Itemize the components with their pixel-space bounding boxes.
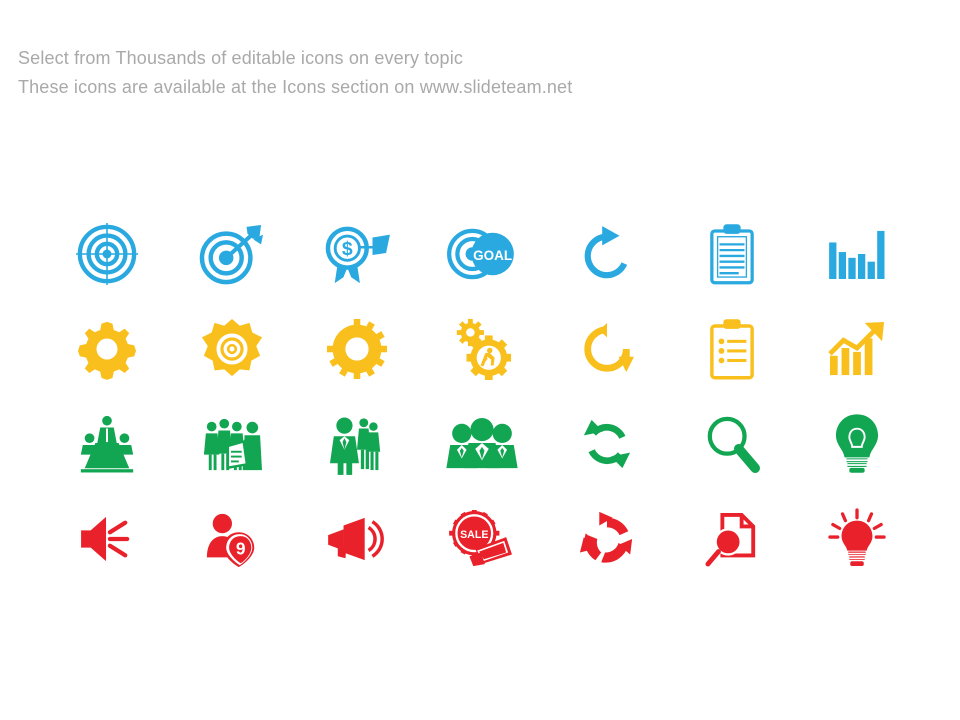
growth-chart-arrow-icon[interactable]: [809, 303, 905, 395]
heading-line-1: Select from Thousands of editable icons …: [18, 44, 918, 73]
crosshair-target-icon[interactable]: [59, 208, 155, 300]
circular-arrow-icon[interactable]: [559, 303, 655, 395]
megaphone-icon[interactable]: [309, 493, 405, 585]
idea-bulb-rays-icon[interactable]: [809, 493, 905, 585]
light-bulb-icon[interactable]: [809, 398, 905, 490]
clipboard-lines-icon[interactable]: [684, 208, 780, 300]
document-search-icon[interactable]: [684, 493, 780, 585]
slide-canvas: Select from Thousands of editable icons …: [0, 0, 960, 720]
svg-text:$: $: [342, 237, 353, 259]
icon-grid: $ GOAL: [44, 206, 920, 586]
group-presentation-icon[interactable]: [184, 398, 280, 490]
team-suits-icon[interactable]: [434, 398, 530, 490]
sale-label: SALE: [460, 529, 488, 541]
person-location-pin-icon[interactable]: 9: [184, 493, 280, 585]
three-businessmen-icon[interactable]: [309, 398, 405, 490]
heading-block: Select from Thousands of editable icons …: [18, 44, 918, 102]
gear-target-icon[interactable]: [184, 303, 280, 395]
clipboard-checklist-icon[interactable]: [684, 303, 780, 395]
target-with-arrow-icon[interactable]: [184, 208, 280, 300]
gear-icon[interactable]: [59, 303, 155, 395]
speaker-volume-icon[interactable]: [59, 493, 155, 585]
refresh-arrow-icon[interactable]: [559, 208, 655, 300]
sync-two-arrows-icon[interactable]: [559, 398, 655, 490]
svg-text:9: 9: [236, 538, 246, 558]
leader-podium-team-icon[interactable]: [59, 398, 155, 490]
magnifier-icon[interactable]: [684, 398, 780, 490]
gears-person-icon[interactable]: [434, 303, 530, 395]
goal-target-icon[interactable]: GOAL: [434, 208, 530, 300]
heading-line-2: These icons are available at the Icons s…: [18, 73, 918, 102]
cogwheel-icon[interactable]: [309, 303, 405, 395]
recycle-three-arrows-icon[interactable]: [559, 493, 655, 585]
bar-chart-icon[interactable]: [809, 208, 905, 300]
dollar-badge-arrow-icon[interactable]: $: [309, 208, 405, 300]
sale-badge-megaphone-icon[interactable]: SALE: [434, 493, 530, 585]
goal-label: GOAL: [473, 247, 512, 262]
